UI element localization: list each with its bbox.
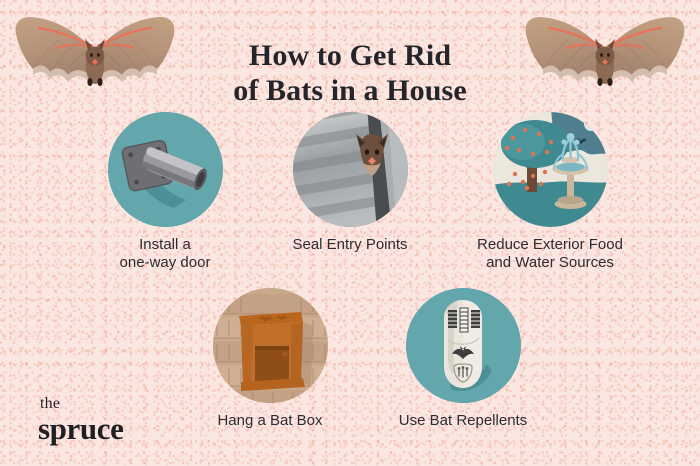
step-caption: Install a one-way door [55,236,275,273]
bat-box-icon [213,288,328,403]
tree-and-fountain-icon [493,112,608,227]
logo-line-the: the [40,396,123,412]
ultrasonic-repellent-icon [406,288,521,403]
step-reduce-exterior-food-water[interactable]: Reduce Exterior Food and Water Sources [437,112,663,273]
page-title: How to Get Rid of Bats in a House [0,38,700,109]
step-seal-entry-points[interactable]: Seal Entry Points [266,112,434,254]
one-way-door-icon [108,112,223,227]
step-caption: Reduce Exterior Food and Water Sources [437,236,663,273]
infographic-poster: How to Get Rid of Bats in a House [0,0,700,466]
the-spruce-logo[interactable]: the spruce [38,396,123,444]
step-caption: Use Bat Repellents [365,412,561,430]
logo-line-spruce: spruce [38,413,123,444]
bat-in-wall-gap-icon [293,112,408,227]
step-caption: Hang a Bat Box [175,412,365,430]
step-install-one-way-door[interactable]: Install a one-way door [55,112,275,273]
title-line-2: of Bats in a House [0,73,700,108]
step-caption: Seal Entry Points [266,236,434,254]
title-line-1: How to Get Rid [249,39,451,72]
step-use-bat-repellents[interactable]: Use Bat Repellents [365,288,561,430]
step-hang-a-bat-box[interactable]: Hang a Bat Box [175,288,365,430]
